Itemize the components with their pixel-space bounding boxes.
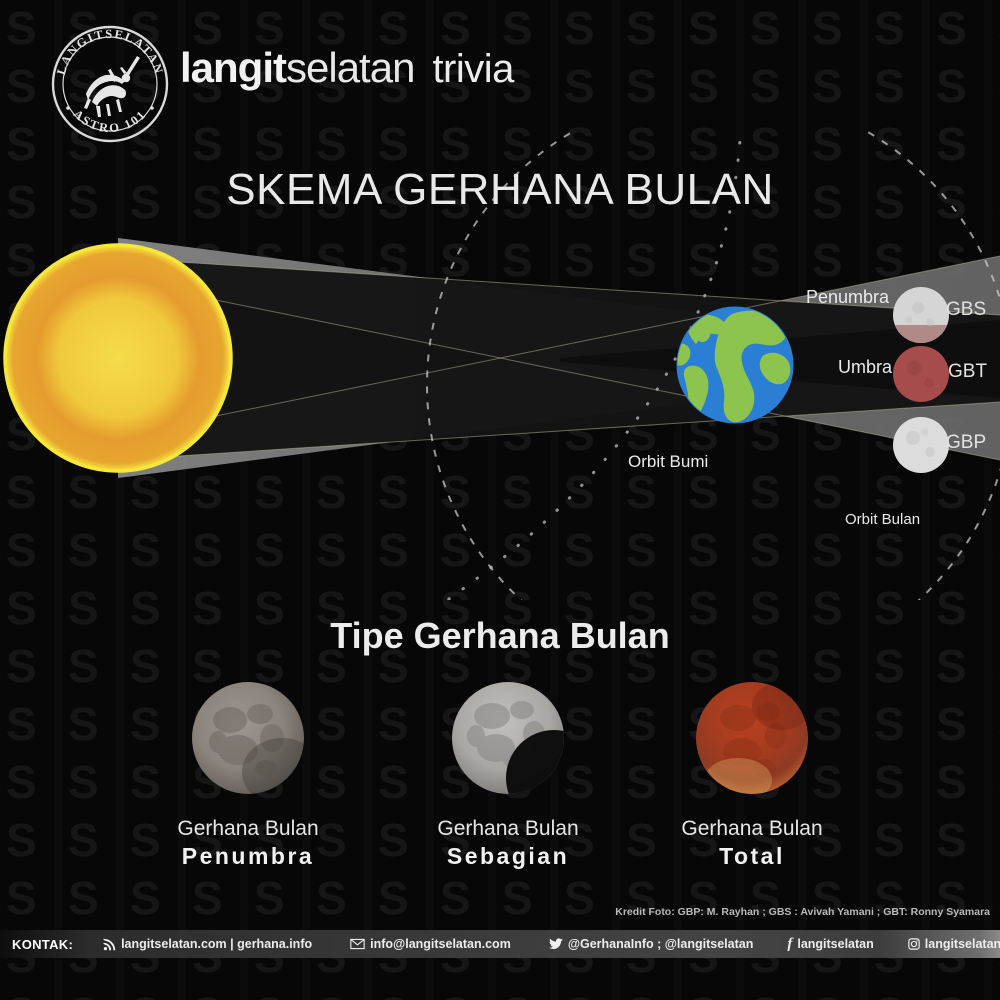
rss-icon — [103, 938, 116, 951]
footer-item-instagram[interactable]: langitselatanmedia — [908, 937, 1000, 951]
eclipse-type-label-line1: Gerhana Bulan — [622, 816, 882, 842]
brand-part3: trivia — [432, 47, 513, 91]
photo-credit: Kredit Foto: GBP: M. Rayhan ; GBS : Aviv… — [615, 906, 990, 918]
eclipse-type-penumbral: Gerhana Bulan Penumbra — [118, 676, 378, 870]
eclipse-type-partial: Gerhana Bulan Sebagian — [378, 676, 638, 870]
label-orbit-bumi: Orbit Bumi — [628, 452, 708, 472]
label-gbt: GBT — [948, 361, 987, 383]
brand-part1: langit — [180, 44, 286, 91]
label-penumbra: Penumbra — [806, 287, 889, 308]
footer-website-text: langitselatan.com | gerhana.info — [121, 937, 312, 951]
moon-gbp — [893, 417, 949, 473]
partial-eclipse-moon-photo — [446, 676, 570, 800]
logo-top-arc-text: LANGITSELATAN — [54, 27, 166, 76]
twitter-icon — [549, 938, 563, 950]
label-gbp: GBP — [946, 432, 986, 454]
footer-item-twitter[interactable]: @GerhanaInfo ; @langitselatan — [549, 937, 754, 951]
footer-facebook-text: langitselatan — [797, 937, 873, 951]
brand-part2: selatan — [286, 44, 414, 91]
eclipse-type-label-line2: Total — [622, 842, 882, 870]
footer-email-text: info@langitselatan.com — [370, 937, 511, 951]
instagram-icon — [908, 938, 920, 950]
footer-contact-bar: KONTAK: langitselatan.com | gerhana.info… — [0, 930, 1000, 958]
kontak-label: KONTAK: — [12, 937, 73, 952]
eclipse-type-label-line2: Penumbra — [118, 842, 378, 870]
label-gbs: GBS — [946, 299, 986, 321]
footer-instagram-text: langitselatanmedia — [925, 937, 1000, 951]
footer-item-facebook[interactable]: f langitselatan — [787, 936, 873, 953]
eclipse-type-label-line1: Gerhana Bulan — [378, 816, 638, 842]
facebook-icon: f — [787, 936, 792, 953]
moon-gbt — [893, 346, 949, 402]
total-eclipse-blood-moon-photo — [690, 676, 814, 800]
footer-item-email[interactable]: info@langitselatan.com — [350, 937, 511, 951]
penumbral-moon-photo — [186, 676, 310, 800]
envelope-icon — [350, 938, 365, 950]
centaur-archer-icon — [84, 56, 140, 117]
brand-wordmark: langitselatantrivia — [180, 38, 514, 98]
page-title: SKEMA GERHANA BULAN — [0, 165, 1000, 215]
eclipse-type-label-line2: Sebagian — [378, 842, 638, 870]
footer-twitter-text: @GerhanaInfo ; @langitselatan — [568, 937, 754, 951]
section-title-types: Tipe Gerhana Bulan — [0, 615, 1000, 657]
label-umbra: Umbra — [838, 357, 892, 378]
svg-text:LANGITSELATAN: LANGITSELATAN — [54, 27, 166, 76]
infographic-page: S LANGITSELATAN ASTRO 101 — [0, 0, 1000, 1000]
langitselatan-astro101-logo: LANGITSELATAN ASTRO 101 — [48, 22, 172, 146]
eclipse-type-total: Gerhana Bulan Total — [622, 676, 882, 870]
eclipse-type-label-line1: Gerhana Bulan — [118, 816, 378, 842]
label-orbit-bulan: Orbit Bulan — [845, 511, 920, 528]
footer-item-website[interactable]: langitselatan.com | gerhana.info — [103, 937, 312, 951]
header: LANGITSELATAN ASTRO 101 langitselatantri… — [0, 0, 1000, 140]
